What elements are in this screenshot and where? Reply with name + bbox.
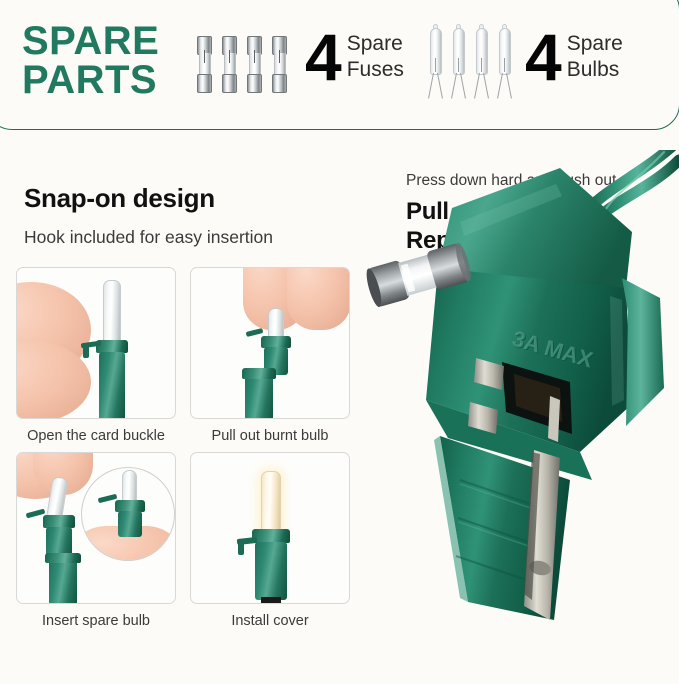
bulb-lead-left-icon: [451, 73, 457, 99]
step-caption: Open the card buckle: [16, 419, 176, 452]
bulb-lead-left-icon: [428, 73, 434, 99]
spare-bulbs-label-line1: Spare: [567, 31, 623, 57]
step-tiles-grid: Open the card buckle Pull out burnt bulb: [16, 267, 356, 637]
snap-hook-icon: [83, 346, 89, 358]
socket-cap-icon: [252, 529, 290, 543]
step-caption-row: Open the card buckle Pull out burnt bulb: [16, 419, 356, 452]
lit-bulb-icon: [261, 471, 281, 533]
snap-hook-icon: [246, 328, 264, 337]
zoom-inset-circle: [81, 467, 175, 561]
spare-bulb-icon: [451, 28, 466, 102]
glass-fuse-icon: [246, 36, 263, 93]
spare-bulb-icon: [474, 28, 489, 102]
fuse-wire-icon: [254, 50, 255, 63]
spare-fuses-label: Spare Fuses: [347, 31, 404, 82]
snap-on-design-subheading: Hook included for easy insertion: [24, 227, 273, 248]
bulb-glass-icon: [430, 28, 442, 75]
socket-base-icon: [245, 372, 273, 419]
bulb-filament-icon: [435, 58, 436, 72]
bulb-glass-icon: [476, 28, 488, 75]
step-caption-row: Insert spare bulb Install cover: [16, 604, 356, 637]
fuse-cap-bottom-icon: [247, 74, 262, 93]
fuse-cap-bottom-icon: [197, 74, 212, 93]
socket-body-icon: [99, 352, 125, 419]
bulb-filament-icon: [458, 58, 459, 72]
spare-bulbs-count: 4: [525, 24, 560, 90]
spare-parts-title-line1: SPARE: [22, 22, 187, 61]
bulb-glass-icon: [103, 280, 121, 344]
plug-photo: 3A MAX 3A MAX: [364, 150, 679, 679]
step-caption: Install cover: [190, 604, 350, 637]
spare-bulbs-label-line2: Bulbs: [567, 57, 623, 83]
spare-bulb-icon: [428, 28, 443, 102]
step-tile-install-cover: [190, 452, 350, 604]
spare-bulbs-label: Spare Bulbs: [567, 31, 623, 82]
bulb-filament-icon: [504, 58, 505, 72]
bulb-icon-group: [428, 28, 512, 102]
bulb-lead-right-icon: [506, 73, 512, 99]
finger-icon: [287, 267, 350, 330]
bulb-lead-right-icon: [460, 73, 466, 99]
glass-fuse-icon: [271, 36, 288, 93]
bulb-lead-left-icon: [497, 73, 503, 99]
bulb-glass-icon: [499, 28, 511, 75]
spare-bulbs-count-block: 4 Spare Bulbs: [525, 24, 623, 90]
spare-parts-title: SPARE PARTS: [22, 22, 187, 100]
fuse-icon-group: [196, 36, 288, 93]
step-tile-row: [16, 452, 356, 604]
spare-bulb-icon: [497, 28, 512, 102]
plug-illustration: 3A MAX 3A MAX: [364, 150, 679, 679]
glass-fuse-icon: [196, 36, 213, 93]
socket-base-icon: [49, 557, 77, 604]
spare-fuses-label-line1: Spare: [347, 31, 404, 57]
spare-parts-title-line2: PARTS: [22, 61, 187, 100]
socket-body-icon: [118, 511, 142, 537]
bulb-glass-icon: [453, 28, 465, 75]
spare-fuses-count-block: 4 Spare Fuses: [305, 24, 404, 90]
plug-body-icon: 3A MAX 3A MAX: [426, 168, 664, 620]
socket-base-rim-icon: [45, 553, 81, 563]
replace-fuse-section: Press down hard and push out Pull cover …: [364, 150, 679, 679]
spare-fuses-count: 4: [305, 24, 340, 90]
fuse-wire-icon: [204, 50, 205, 63]
bulb-filament-icon: [481, 58, 482, 72]
snap-on-design-heading: Snap-on design: [24, 183, 215, 214]
socket-body-icon: [255, 542, 287, 600]
spare-fuses-label-line2: Fuses: [347, 57, 404, 83]
fuse-wire-icon: [279, 50, 280, 63]
glass-fuse-icon: [221, 36, 238, 93]
step-tile-row: [16, 267, 356, 419]
bulb-lead-right-icon: [437, 73, 443, 99]
step-tile-insert-spare-bulb: [16, 452, 176, 604]
fuse-cap-bottom-icon: [272, 74, 287, 93]
snap-hook-icon: [238, 542, 244, 555]
fuse-wire-icon: [229, 50, 230, 63]
bulb-lead-left-icon: [474, 73, 480, 99]
step-caption: Pull out burnt bulb: [190, 419, 350, 452]
socket-base-rim-icon: [242, 368, 276, 379]
fuse-cap-bottom-icon: [222, 74, 237, 93]
socket-leads-icon: [261, 597, 281, 604]
step-caption: Insert spare bulb: [16, 604, 176, 637]
step-tile-open-card-buckle: [16, 267, 176, 419]
bulb-lead-right-icon: [483, 73, 489, 99]
step-tile-pull-out-burnt-bulb: [190, 267, 350, 419]
